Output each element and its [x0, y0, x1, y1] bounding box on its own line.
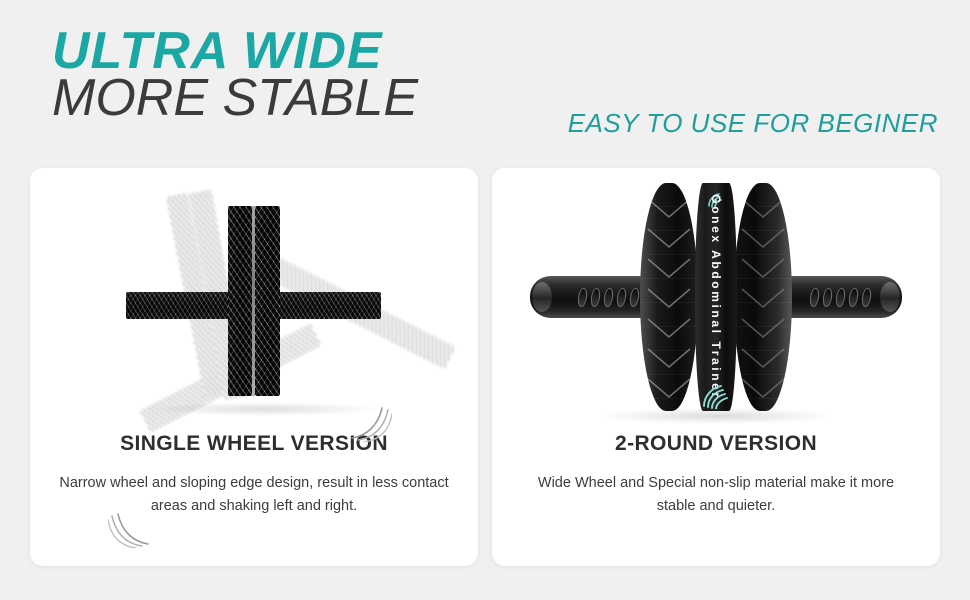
feature-card-row: SINGLE WHEEL VERSION Narrow wheel and sl…	[30, 168, 940, 566]
wide-wheel-illustration: Gonex Abdominal Trainer	[492, 168, 940, 430]
header: ULTRA WIDE MORE STABLE EASY TO USE FOR B…	[0, 0, 970, 160]
tread-chevrons-right-icon	[740, 191, 786, 403]
handle-right-grooves-icon	[810, 288, 871, 307]
wide-product-ground-shadow	[602, 408, 832, 424]
card-description-two-round: Wide Wheel and Special non-slip material…	[521, 472, 911, 519]
card-title-single-wheel: SINGLE WHEEL VERSION	[30, 432, 478, 456]
feature-card-two-round: Gonex Abdominal Trainer	[492, 168, 940, 566]
wheel-slab-a	[228, 206, 252, 396]
wheel-center-band: Gonex Abdominal Trainer	[695, 183, 737, 411]
card-title-two-round: 2-ROUND VERSION	[492, 432, 940, 456]
product-image-narrow-wheel	[30, 168, 478, 430]
handle-bar-left	[126, 292, 230, 319]
brand-label: Gonex Abdominal Trainer	[709, 194, 723, 399]
product-ground-shadow	[148, 402, 378, 416]
wheel-tread-left	[640, 183, 698, 411]
headline: ULTRA WIDE MORE STABLE	[52, 26, 418, 124]
wide-wheel: Gonex Abdominal Trainer	[640, 183, 792, 411]
handle-right-end-cap-icon	[880, 282, 900, 312]
motion-arcs-bottom-left-icon	[108, 506, 154, 548]
product-image-wide-wheel: Gonex Abdominal Trainer	[492, 168, 940, 430]
handle-bar-right	[277, 292, 381, 319]
headline-secondary: MORE STABLE	[52, 73, 418, 124]
narrow-wheel-illustration	[30, 168, 478, 430]
feature-card-single-wheel: SINGLE WHEEL VERSION Narrow wheel and sl…	[30, 168, 478, 566]
tread-chevrons-left-icon	[646, 191, 692, 403]
header-tagline: EASY TO USE FOR BEGINER	[568, 108, 938, 139]
wave-signal-bottom-icon	[701, 381, 731, 409]
promo-page: ULTRA WIDE MORE STABLE EASY TO USE FOR B…	[0, 0, 970, 600]
wheel-slab-b	[255, 206, 280, 396]
handle-left-end-cap-icon	[532, 282, 552, 312]
wheel-tread-right	[734, 183, 792, 411]
handle-left-grooves-icon	[578, 288, 639, 307]
